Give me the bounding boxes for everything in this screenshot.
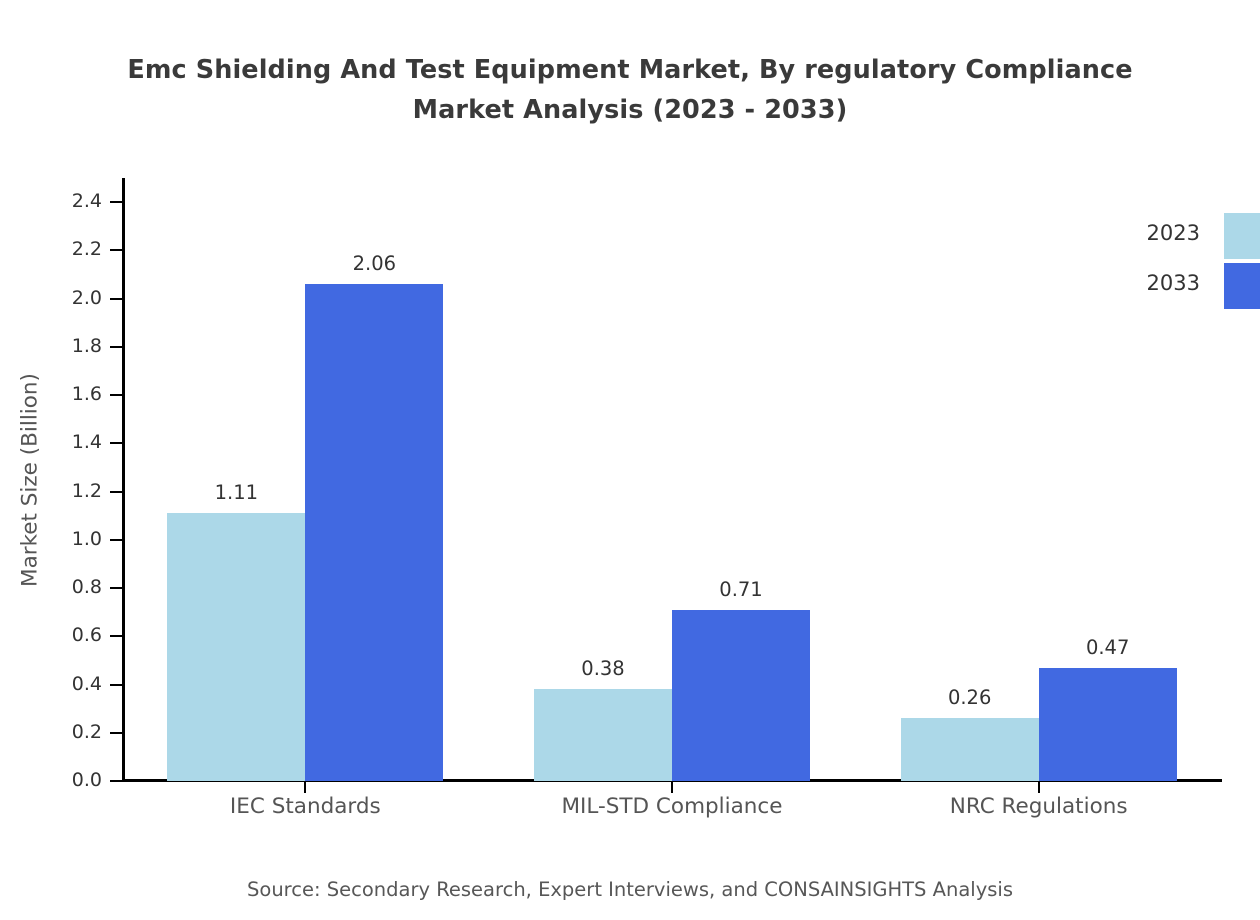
y-tick-label: 0.6 [42, 626, 102, 645]
y-tick-label: 1.4 [42, 433, 102, 452]
bar-2033-iec-standards[interactable] [305, 284, 443, 781]
bar-value-label: 1.11 [167, 481, 305, 504]
x-tick-mark [671, 781, 673, 793]
y-tick-label: 0.4 [42, 675, 102, 694]
bar-2023-iec-standards[interactable] [167, 513, 305, 781]
legend-color-swatch [1224, 263, 1260, 309]
y-tick-label: 0.8 [42, 578, 102, 597]
y-tick-label: 0.0 [42, 771, 102, 790]
y-tick-label: 1.0 [42, 530, 102, 549]
bar-value-label: 0.47 [1039, 636, 1177, 659]
chart-title: Emc Shielding And Test Equipment Market,… [0, 50, 1260, 130]
legend-label: 2033 [1147, 271, 1200, 295]
y-tick-label: 2.0 [42, 289, 102, 308]
y-tick-label: 1.2 [42, 482, 102, 501]
bar-value-label: 0.71 [672, 578, 810, 601]
bar-2033-mil-std-compliance[interactable] [672, 610, 810, 781]
plot-area: 1.112.060.380.710.260.47 [122, 178, 1222, 781]
legend-color-swatch [1224, 213, 1260, 259]
y-tick-label: 2.2 [42, 240, 102, 259]
x-tick-label-nrc-regulations: NRC Regulations [839, 794, 1239, 819]
chart-title-line-2: Market Analysis (2023 - 2033) [0, 90, 1260, 130]
y-tick-label: 0.2 [42, 723, 102, 742]
bar-value-label: 0.38 [534, 657, 672, 680]
bar-value-label: 2.06 [305, 252, 443, 275]
bar-chart-figure: Emc Shielding And Test Equipment Market,… [0, 0, 1260, 920]
source-note: Source: Secondary Research, Expert Inter… [0, 878, 1260, 901]
y-axis-title: Market Size (Billion) [18, 373, 43, 587]
legend-item-2033[interactable]: 2033 [1100, 263, 1260, 309]
x-tick-mark [1038, 781, 1040, 793]
bar-2023-nrc-regulations[interactable] [901, 718, 1039, 781]
y-tick-label: 2.4 [42, 192, 102, 211]
x-tick-label-mil-std-compliance: MIL-STD Compliance [472, 794, 872, 819]
legend-label: 2023 [1147, 221, 1200, 245]
bar-value-label: 0.26 [901, 686, 1039, 709]
chart-title-line-1: Emc Shielding And Test Equipment Market,… [0, 50, 1260, 90]
bar-2033-nrc-regulations[interactable] [1039, 668, 1177, 781]
y-tick-label: 1.8 [42, 337, 102, 356]
x-tick-mark [304, 781, 306, 793]
y-tick-label: 1.6 [42, 385, 102, 404]
chart-legend: 20232033 [1100, 213, 1260, 313]
x-tick-label-iec-standards: IEC Standards [105, 794, 505, 819]
legend-item-2023[interactable]: 2023 [1100, 213, 1260, 259]
bar-2023-mil-std-compliance[interactable] [534, 689, 672, 781]
